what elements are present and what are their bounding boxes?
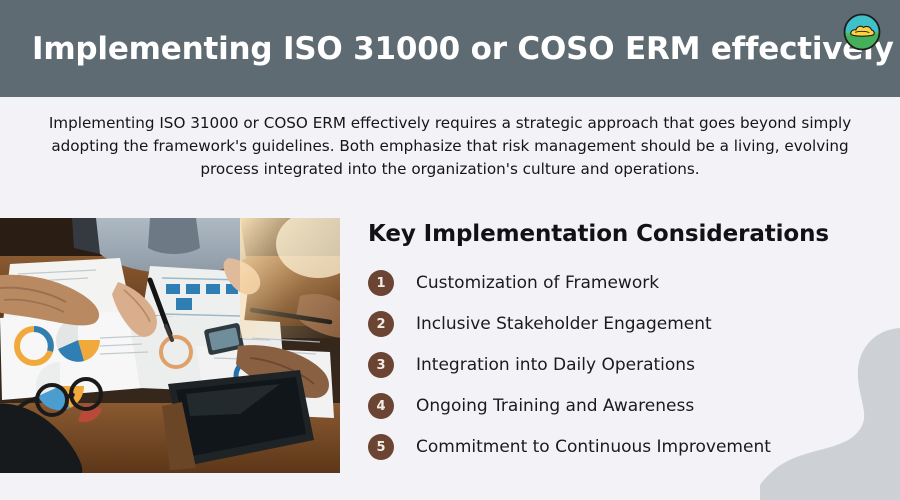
list-item[interactable]: 2 Inclusive Stakeholder Engagement bbox=[368, 304, 888, 345]
list-item[interactable]: 1 Customization of Framework bbox=[368, 263, 888, 304]
list-number-badge: 3 bbox=[368, 352, 394, 378]
list-item-label: Integration into Daily Operations bbox=[416, 355, 695, 375]
considerations-list: 1 Customization of Framework 2 Inclusive… bbox=[368, 263, 888, 468]
list-item-label: Ongoing Training and Awareness bbox=[416, 396, 694, 416]
considerations-panel: Key Implementation Considerations 1 Cust… bbox=[368, 221, 888, 468]
brand-logo-icon[interactable] bbox=[842, 12, 882, 52]
list-item[interactable]: 5 Commitment to Continuous Improvement bbox=[368, 427, 888, 468]
list-number-badge: 4 bbox=[368, 393, 394, 419]
infographic-slide: Implementing ISO 31000 or COSO ERM effec… bbox=[0, 0, 900, 500]
section-title: Key Implementation Considerations bbox=[368, 221, 888, 249]
list-number-badge: 2 bbox=[368, 311, 394, 337]
list-number-badge: 5 bbox=[368, 434, 394, 460]
intro-paragraph: Implementing ISO 31000 or COSO ERM effec… bbox=[22, 112, 878, 181]
list-item-label: Inclusive Stakeholder Engagement bbox=[416, 314, 712, 334]
meeting-photo bbox=[0, 218, 340, 473]
list-item-label: Commitment to Continuous Improvement bbox=[416, 437, 771, 457]
list-item[interactable]: 4 Ongoing Training and Awareness bbox=[368, 386, 888, 427]
list-number-badge: 1 bbox=[368, 270, 394, 296]
list-item[interactable]: 3 Integration into Daily Operations bbox=[368, 345, 888, 386]
list-item-label: Customization of Framework bbox=[416, 273, 659, 293]
page-title: Implementing ISO 31000 or COSO ERM effec… bbox=[32, 31, 894, 65]
header-bar: Implementing ISO 31000 or COSO ERM effec… bbox=[0, 0, 900, 97]
